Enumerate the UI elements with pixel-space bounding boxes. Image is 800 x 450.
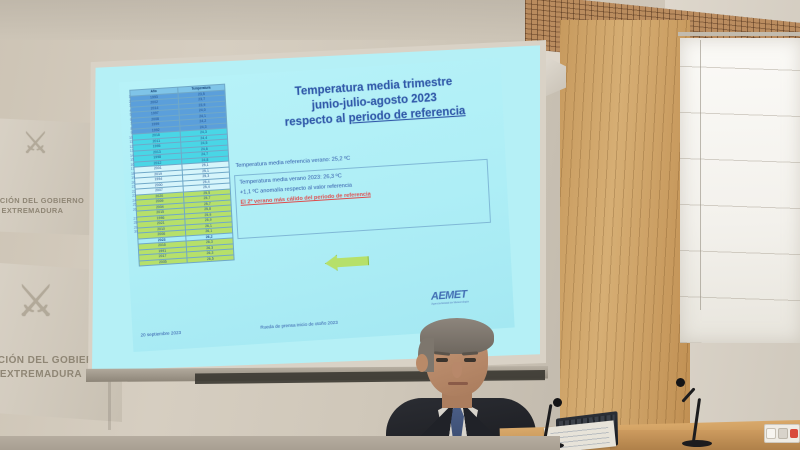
spanish-coat-of-arms-icon: ⚔ xyxy=(16,276,55,327)
rank-number: 30 xyxy=(129,230,138,235)
press-conference-photo: ⚔ GACIÓN DEL GOBIERNO EN EXTREMADURA ⚔ G… xyxy=(0,0,800,450)
roller-blind-window-icon xyxy=(680,38,800,343)
slide-footer-event: Rueda de prensa inicio de otoño 2023 xyxy=(260,320,338,330)
socket-outlet-2[interactable] xyxy=(778,428,788,439)
sign-line-1: GACIÓN DEL GOBIERNO xyxy=(0,196,84,206)
wall-upper-shadow xyxy=(0,0,560,40)
eye-left xyxy=(436,358,448,362)
aemet-logo: AEMET Agencia Estatal de Meteorología xyxy=(431,287,490,317)
summary-box: Temperatura media verano 2023: 26,3 ºC +… xyxy=(234,159,491,239)
table-body: 199323,5200223,7201423,9199724,0200824,1… xyxy=(130,90,234,266)
left-pointing-arrow-icon xyxy=(325,253,370,272)
spanish-coat-of-arms-icon: ⚔ xyxy=(22,126,49,161)
blind-cord xyxy=(700,40,701,310)
wall-sign-upper-text: GACIÓN DEL GOBIERNO EN EXTREMADURA xyxy=(0,196,84,216)
presentation-slide: 1234567891011121314151617181920212223242… xyxy=(119,58,515,352)
blind-rail xyxy=(678,32,800,36)
floor-edge xyxy=(0,436,560,450)
wood-wall-panel xyxy=(560,20,690,450)
slide-title-line-3-pre: respecto al xyxy=(285,113,349,129)
temperature-table: Año Temperatura 199323,5200223,7201423,9… xyxy=(129,84,234,267)
socket-outlet-3[interactable] xyxy=(790,429,798,438)
ear xyxy=(416,354,428,372)
slide-title: Temperatura media trimestre junio-julio-… xyxy=(249,72,499,133)
eye-right xyxy=(464,358,476,362)
socket-outlet-1[interactable] xyxy=(766,428,776,439)
nose xyxy=(452,362,462,378)
slide-footer-date: 20 septiembre 2023 xyxy=(140,330,181,338)
mic-base xyxy=(682,440,712,447)
temperature-table-wrapper: 1234567891011121314151617181920212223242… xyxy=(129,84,234,267)
power-socket-icon[interactable] xyxy=(764,424,800,443)
mouth xyxy=(448,382,468,385)
mic-capsule xyxy=(676,378,685,387)
mic-capsule xyxy=(553,398,562,407)
sign-line-2: EN EXTREMADURA xyxy=(0,206,84,216)
